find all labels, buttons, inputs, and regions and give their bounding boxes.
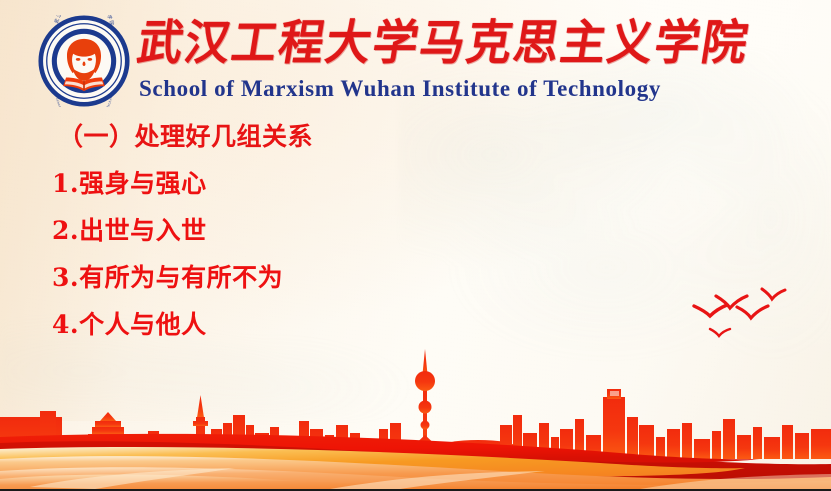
content-heading: （一）处理好几组关系 xyxy=(58,124,692,149)
school-title-chinese-text: 武汉工程大学马克思主义学院 xyxy=(133,12,688,73)
content-item-3: 3.有所为与有所不为 xyxy=(52,265,692,290)
school-title-chinese: 武汉工程大学马克思主义学院 xyxy=(138,14,683,72)
footer-decoration xyxy=(0,329,831,489)
school-title-english: School of Marxism Wuhan Institute of Tec… xyxy=(139,76,661,102)
content-item-2: 2.出世与入世 xyxy=(52,218,692,243)
content-item-1: 1.强身与强心 xyxy=(52,171,692,196)
presentation-slide: 武汉工程大学马克思主义学院 School of Marxism Wuhan In… xyxy=(0,0,831,491)
slide-body: （一）处理好几组关系 1.强身与强心 2.出世与入世 3.有所为与有所不为 4.… xyxy=(52,124,692,337)
school-emblem-icon: 武汉工程大学马克思主义学院 School of Marxism Wuhan In… xyxy=(38,15,130,107)
slide-header: 武汉工程大学马克思主义学院 School of Marxism Wuhan In… xyxy=(0,0,831,112)
